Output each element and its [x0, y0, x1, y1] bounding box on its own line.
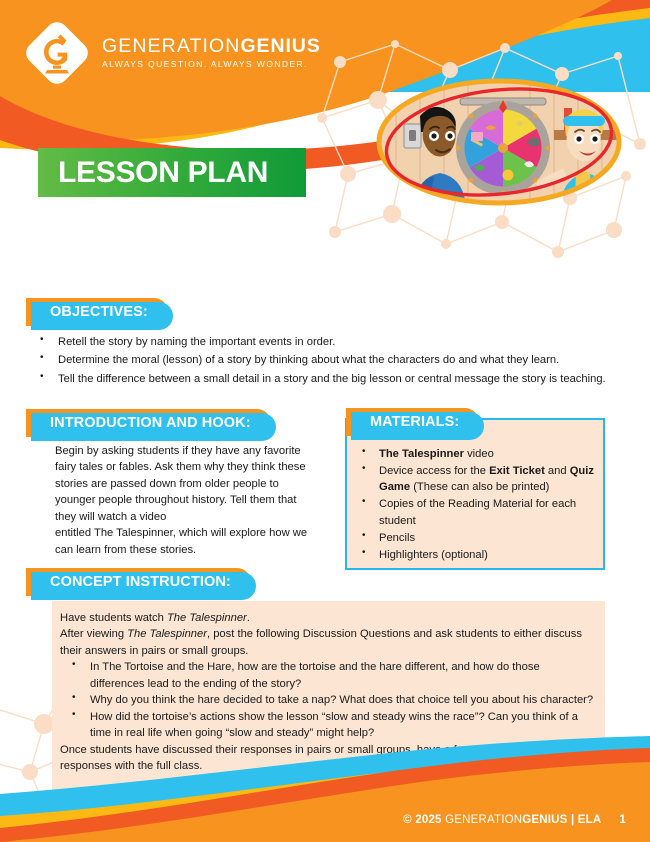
brand-tagline: ALWAYS QUESTION. ALWAYS WONDER.: [102, 60, 321, 69]
footer-copyright: © 2025 GENERATIONGENIUS | ELA1: [403, 815, 626, 827]
section-header-objectives: OBJECTIVES:: [26, 298, 168, 326]
material-emphasis: The Talespinner: [379, 448, 464, 460]
page-title: LESSON PLAN: [38, 158, 268, 188]
footer-copyright-symbol: ©: [403, 815, 412, 827]
list-item: Tell the difference between a small deta…: [32, 371, 632, 387]
footer-page-number: 1: [619, 815, 626, 827]
lesson-plan-banner: LESSON PLAN: [38, 148, 306, 197]
introduction-body: Begin by asking students if they have an…: [55, 443, 320, 558]
list-item: How did the tortoise’s actions show the …: [60, 709, 597, 742]
footer-separator: |: [571, 815, 574, 827]
brand-wordmark-bold: GENIUS: [240, 35, 320, 57]
section-header-materials: MATERIALS:: [346, 408, 479, 436]
introduction-paragraph-2: entitled The Talespinner, which will exp…: [55, 525, 320, 558]
materials-list: The Talespinner video Device access for …: [355, 446, 599, 564]
list-item: Highlighters (optional): [355, 547, 599, 563]
brand-wordmark: GENERATIONGENIUS: [102, 37, 321, 57]
concept-line-2: After viewing The Talespinner, post the …: [60, 626, 597, 659]
brand-wordmark-light: GENERATION: [102, 35, 240, 57]
list-item: Retell the story by naming the important…: [32, 334, 632, 350]
concept-closing: Once students have discussed their respo…: [60, 742, 597, 775]
concept-instruction-body: Have students watch The Talespinner. Aft…: [60, 610, 597, 775]
brand-logo-block: GENERATIONGENIUS ALWAYS QUESTION. ALWAYS…: [26, 22, 321, 84]
section-header-materials-label: MATERIALS:: [370, 415, 459, 430]
introduction-paragraph-1: Begin by asking students if they have an…: [55, 443, 320, 525]
section-header-introduction-label: INTRODUCTION AND HOOK:: [50, 416, 251, 431]
concept-line-1: Have students watch The Talespinner.: [60, 610, 597, 626]
list-item: In The Tortoise and the Hare, how are th…: [60, 659, 597, 692]
list-item: Device access for the Exit Ticket and Qu…: [355, 463, 599, 496]
footer-subject: ELA: [578, 815, 602, 827]
footer-year: 2025: [415, 815, 441, 827]
lesson-plan-page: GENERATIONGENIUS ALWAYS QUESTION. ALWAYS…: [0, 0, 650, 842]
brand-wordmark-block: GENERATIONGENIUS ALWAYS QUESTION. ALWAYS…: [102, 37, 321, 68]
list-item: Determine the moral (lesson) of a story …: [32, 352, 632, 368]
section-header-introduction: INTRODUCTION AND HOOK:: [26, 409, 271, 437]
list-item: The Talespinner video: [355, 446, 599, 462]
discussion-questions-list: In The Tortoise and the Hare, how are th…: [60, 659, 597, 741]
hero-illustration: [368, 72, 630, 212]
list-item: Pencils: [355, 530, 599, 546]
section-header-concept-instruction-label: CONCEPT INSTRUCTION:: [50, 575, 231, 590]
section-header-objectives-label: OBJECTIVES:: [50, 305, 148, 320]
objectives-list: Retell the story by naming the important…: [32, 334, 632, 389]
list-item: Why do you think the hare decided to tak…: [60, 692, 597, 708]
microscope-g-logo-icon: [26, 22, 88, 84]
footer-brand-light: GENERATION: [445, 815, 522, 827]
footer-brand-bold: GENIUS: [522, 815, 567, 827]
material-emphasis: Exit Ticket: [489, 465, 545, 477]
list-item: Copies of the Reading Material for each …: [355, 496, 599, 529]
section-header-concept-instruction: CONCEPT INSTRUCTION:: [26, 568, 251, 596]
